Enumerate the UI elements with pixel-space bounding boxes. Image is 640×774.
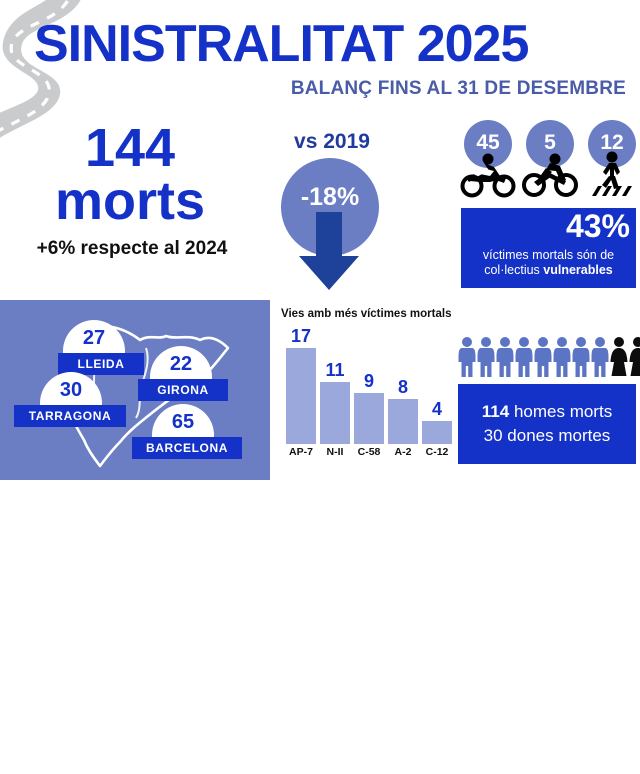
arrow-down-icon [296, 212, 362, 290]
bar [388, 399, 418, 444]
male-figure-icon [572, 336, 590, 378]
deaths-count: 144 [18, 122, 242, 175]
chart-title: Vies amb més víctimes mortals [281, 308, 461, 320]
bar-value-label: 4 [417, 399, 457, 420]
vulnerable-mode-motorcycle: 45 [464, 120, 512, 202]
female-figure-icon [610, 336, 628, 378]
bar-value-label: 17 [281, 326, 321, 347]
bicycle-icon [522, 150, 578, 198]
roads-bar-chart: 1711984 [286, 326, 456, 444]
vulnerable-mode-bicycle: 5 [526, 120, 574, 202]
page-title: SINISTRALITAT 2025 [34, 18, 630, 70]
female-figure-icon [629, 336, 640, 378]
male-figure-icon [458, 336, 476, 378]
deaths-comparison: +6% respecte al 2024 [6, 238, 258, 260]
traffic-service-logo [8, 732, 50, 774]
gender-men-count: 114 [482, 402, 509, 421]
vulnerable-line2-bold: vulnerables [543, 263, 612, 277]
infographic-canvas: SINISTRALITAT 2025 BALANÇ FINS AL 31 DE … [0, 0, 640, 480]
male-figure-icon [496, 336, 514, 378]
male-figure-icon [534, 336, 552, 378]
bar [286, 348, 316, 444]
bar [422, 421, 452, 444]
deaths-label: morts [18, 175, 242, 228]
vulnerable-percent-line1: víctimes mortals són de [461, 248, 636, 262]
gender-women-line: 30 dones mortes [458, 426, 636, 446]
male-figure-icon [553, 336, 571, 378]
vs-2019-percent: -18% [281, 183, 379, 212]
vulnerable-modes-group: 45 5 [464, 120, 636, 202]
province-count: 65 [152, 411, 214, 434]
vs-2019-label: vs 2019 [272, 130, 392, 154]
province-name: TARRAGONA [14, 405, 126, 427]
male-figure-icon [591, 336, 609, 378]
page-subtitle: BALANÇ FINS AL 31 DE DESEMBRE [0, 78, 626, 100]
gender-men-line: 114 homes morts [458, 402, 636, 422]
province-name: GIRONA [138, 379, 228, 401]
province-name: BARCELONA [132, 437, 242, 459]
province-count: 27 [63, 327, 125, 350]
vulnerable-line2-prefix: col·lectius [484, 263, 543, 277]
map-panel: 27 LLEIDA 22 GIRONA 30 TARRAGONA 65 BARC… [0, 300, 270, 480]
gender-men-label: homes morts [509, 402, 612, 421]
male-figure-icon [477, 336, 495, 378]
bar-category-label: C-12 [417, 446, 457, 458]
vulnerable-mode-pedestrian: 12 [588, 120, 636, 202]
gender-pictogram-row [458, 336, 638, 378]
vulnerable-percent-line2: col·lectius vulnerables [461, 263, 636, 277]
bar [354, 393, 384, 444]
chart-x-axis: AP-7N-IIC-58A-2C-12 [286, 446, 456, 462]
province-count: 30 [40, 379, 102, 402]
vulnerable-percent-value: 43% [461, 210, 630, 242]
bar [320, 382, 350, 444]
motorcycle-icon [460, 150, 516, 198]
pedestrian-icon [584, 150, 640, 198]
bar-value-label: 8 [383, 377, 423, 398]
gender-box [458, 384, 636, 464]
male-figure-icon [515, 336, 533, 378]
province-count: 22 [150, 353, 212, 376]
